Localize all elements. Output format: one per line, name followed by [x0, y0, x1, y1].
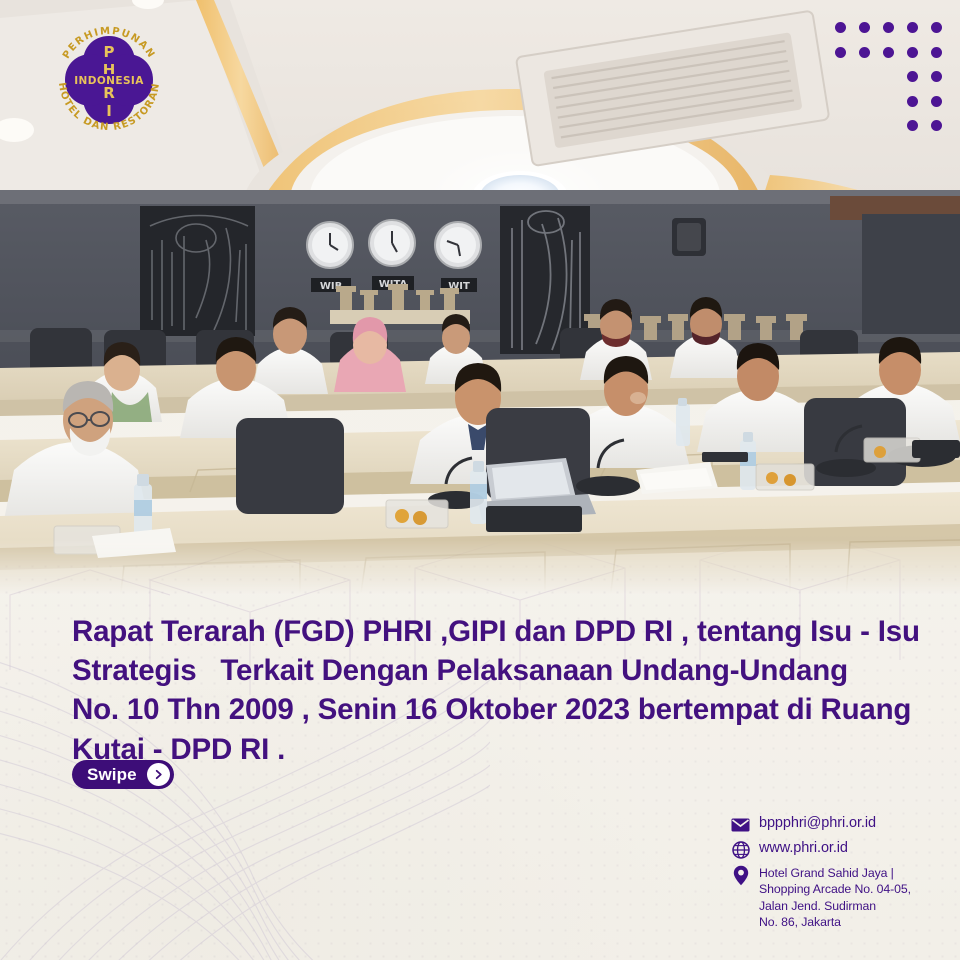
contact-email-value: bppphri@phri.or.id	[759, 815, 876, 832]
grid-dot	[859, 47, 870, 58]
grid-dot	[907, 22, 918, 33]
svg-text:P: P	[104, 43, 115, 61]
grid-dot	[907, 120, 918, 131]
chevron-right-icon	[147, 763, 170, 786]
grid-dot-empty	[835, 96, 846, 107]
address-line: Shopping Arcade No. 04-05,	[759, 881, 911, 897]
headline-line: Kutai - DPD RI .	[72, 730, 902, 769]
grid-dot-empty	[883, 120, 894, 131]
contact-website-row[interactable]: www.phri.or.id	[731, 840, 946, 859]
grid-dot	[931, 22, 942, 33]
grid-dot	[907, 47, 918, 58]
dot-grid-row	[822, 71, 942, 82]
dot-grid-row	[822, 47, 942, 58]
grid-dot-empty	[859, 96, 870, 107]
headline-line: No. 10 Thn 2009 , Senin 16 Oktober 2023 …	[72, 690, 902, 729]
contact-email-row[interactable]: bppphri@phri.or.id	[731, 815, 946, 834]
address-line: Hotel Grand Sahid Jaya |	[759, 865, 911, 881]
envelope-icon	[731, 815, 750, 834]
svg-text:INDONESIA: INDONESIA	[74, 75, 144, 87]
grid-dot	[907, 96, 918, 107]
grid-dot-empty	[883, 71, 894, 82]
grid-dot	[931, 120, 942, 131]
contact-block: bppphri@phri.or.id www.phri.or.id	[731, 815, 946, 930]
grid-dot	[931, 47, 942, 58]
dot-grid-row	[822, 96, 942, 107]
grid-dot	[883, 22, 894, 33]
grid-dot	[859, 22, 870, 33]
social-post-card: WIB WITA WIT	[0, 0, 960, 960]
grid-dot	[931, 96, 942, 107]
contact-website-value: www.phri.or.id	[759, 840, 848, 857]
dot-grid	[822, 22, 942, 145]
dot-grid-row	[822, 120, 942, 131]
contact-address-value: Hotel Grand Sahid Jaya | Shopping Arcade…	[759, 865, 911, 930]
headline-line: Rapat Terarah (FGD) PHRI ,GIPI dan DPD R…	[72, 612, 902, 651]
grid-dot	[931, 71, 942, 82]
grid-dot	[835, 22, 846, 33]
grid-dot	[883, 47, 894, 58]
grid-dot-empty	[859, 120, 870, 131]
page-title: Rapat Terarah (FGD) PHRI ,GIPI dan DPD R…	[72, 612, 902, 769]
address-line: Jalan Jend. Sudirman	[759, 898, 911, 914]
phri-logo: P H R I INDONESIA PERHIMPUNAN HOTEL DAN …	[47, 18, 171, 142]
headline-line: Strategis Terkait Dengan Pelaksanaan Und…	[72, 651, 902, 690]
swipe-button-label: Swipe	[87, 765, 137, 785]
swipe-button[interactable]: Swipe	[72, 760, 174, 789]
map-pin-icon	[731, 866, 750, 885]
svg-text:I: I	[106, 102, 112, 120]
grid-dot	[835, 47, 846, 58]
grid-dot-empty	[835, 71, 846, 82]
grid-dot-empty	[835, 120, 846, 131]
grid-dot-empty	[859, 71, 870, 82]
dot-grid-row	[822, 22, 942, 33]
contact-address-row: Hotel Grand Sahid Jaya | Shopping Arcade…	[731, 865, 946, 930]
address-line: No. 86, Jakarta	[759, 914, 911, 930]
globe-icon	[731, 840, 750, 859]
grid-dot	[907, 71, 918, 82]
grid-dot-empty	[883, 96, 894, 107]
